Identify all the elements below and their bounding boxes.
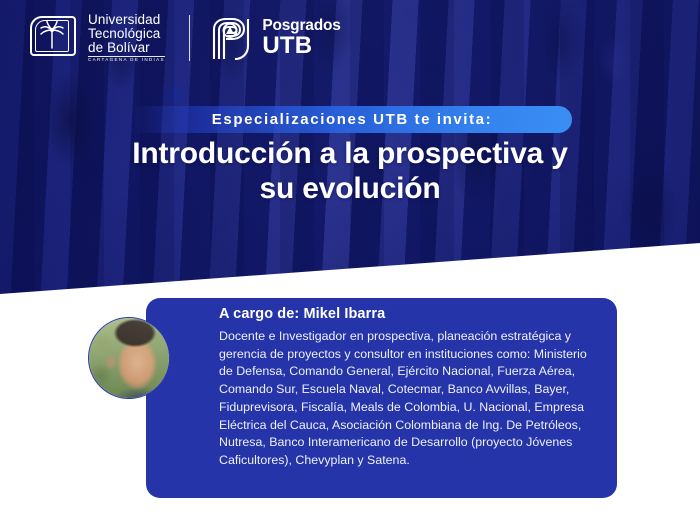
logo-bar: Universidad Tecnológica de Bolívar CARTA… — [30, 10, 341, 66]
page-title-line2: su evolución — [50, 171, 650, 206]
avatar-shade — [89, 318, 169, 398]
event-poster: Universidad Tecnológica de Bolívar CARTA… — [0, 0, 700, 515]
palm-tree-icon — [37, 21, 67, 50]
eyebrow-text: Especializaciones UTB te invita: — [132, 106, 572, 133]
page-title-line1: Introducción a la prospectiva y — [50, 136, 650, 171]
speaker-heading: A cargo de: Mikel Ibarra — [219, 306, 601, 322]
university-tagline: CARTAGENA DE INDIAS — [88, 56, 165, 63]
utb-palm-shield-icon — [30, 16, 80, 60]
university-name: Universidad Tecnológica de Bolívar CARTA… — [88, 13, 165, 63]
postgrad-wordmark-line2: UTB — [262, 34, 340, 58]
university-name-line3: de Bolívar — [88, 41, 165, 55]
university-name-line2: Tecnológica — [88, 27, 165, 41]
speaker-bio: Docente e Investigador en prospectiva, p… — [219, 328, 601, 470]
logo-divider — [189, 15, 191, 61]
posgrados-utb-monogram-icon — [210, 16, 252, 60]
avatar — [88, 317, 170, 399]
postgrad-wordmark-line1: Posgrados — [262, 18, 340, 33]
university-name-line1: Universidad — [88, 13, 165, 27]
speaker-card-body: A cargo de: Mikel Ibarra Docente e Inves… — [219, 306, 601, 470]
page-title: Introducción a la prospectiva y su evolu… — [50, 136, 650, 206]
postgrad-wordmark: Posgrados UTB — [262, 18, 340, 58]
